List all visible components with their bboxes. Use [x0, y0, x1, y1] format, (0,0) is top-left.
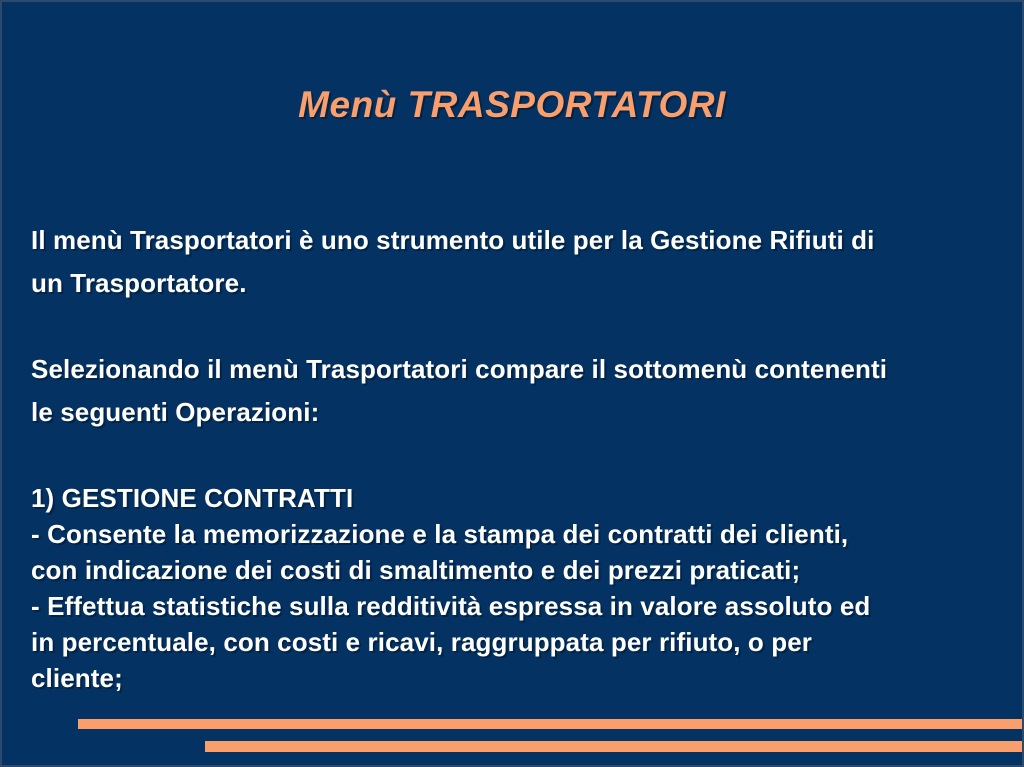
paragraph-submenu-line-1: Selezionando il menù Trasportatori compa…	[31, 348, 1006, 391]
paragraph-gestione-contratti: 1) GESTIONE CONTRATTI - Consente la memo…	[31, 480, 1006, 696]
paragraph-intro-line-1: Il menù Trasportatori è uno strumento ut…	[31, 219, 1006, 262]
item-1-bullet-2-line-2: in percentuale, con costi e ricavi, ragg…	[31, 624, 1006, 660]
item-1-heading: 1) GESTIONE CONTRATTI	[31, 480, 1006, 516]
item-1-bullet-2-line-3: cliente;	[31, 660, 1006, 696]
page-title: Menù TRASPORTATORI	[298, 84, 726, 126]
paragraph-intro: Il menù Trasportatori è uno strumento ut…	[31, 219, 1006, 305]
slide-body-area: Il menù Trasportatori è uno strumento ut…	[31, 219, 1006, 696]
presentation-slide: Menù TRASPORTATORI Il menù Trasportatori…	[0, 0, 1024, 767]
item-1-bullet-2-line-1: - Effettua statistiche sulla redditività…	[31, 588, 1006, 624]
accent-bar-top	[78, 719, 1022, 729]
paragraph-submenu: Selezionando il menù Trasportatori compa…	[31, 348, 1006, 434]
item-1-bullet-1-line-1: - Consente la memorizzazione e la stampa…	[31, 516, 1006, 552]
item-1-bullet-1-line-2: con indicazione dei costi di smaltimento…	[31, 552, 1006, 588]
paragraph-intro-line-2: un Trasportatore.	[31, 262, 1006, 305]
accent-bar-bottom	[205, 741, 1022, 752]
slide-title-area: Menù TRASPORTATORI	[2, 84, 1022, 126]
paragraph-submenu-line-2: le seguenti Operazioni:	[31, 391, 1006, 434]
